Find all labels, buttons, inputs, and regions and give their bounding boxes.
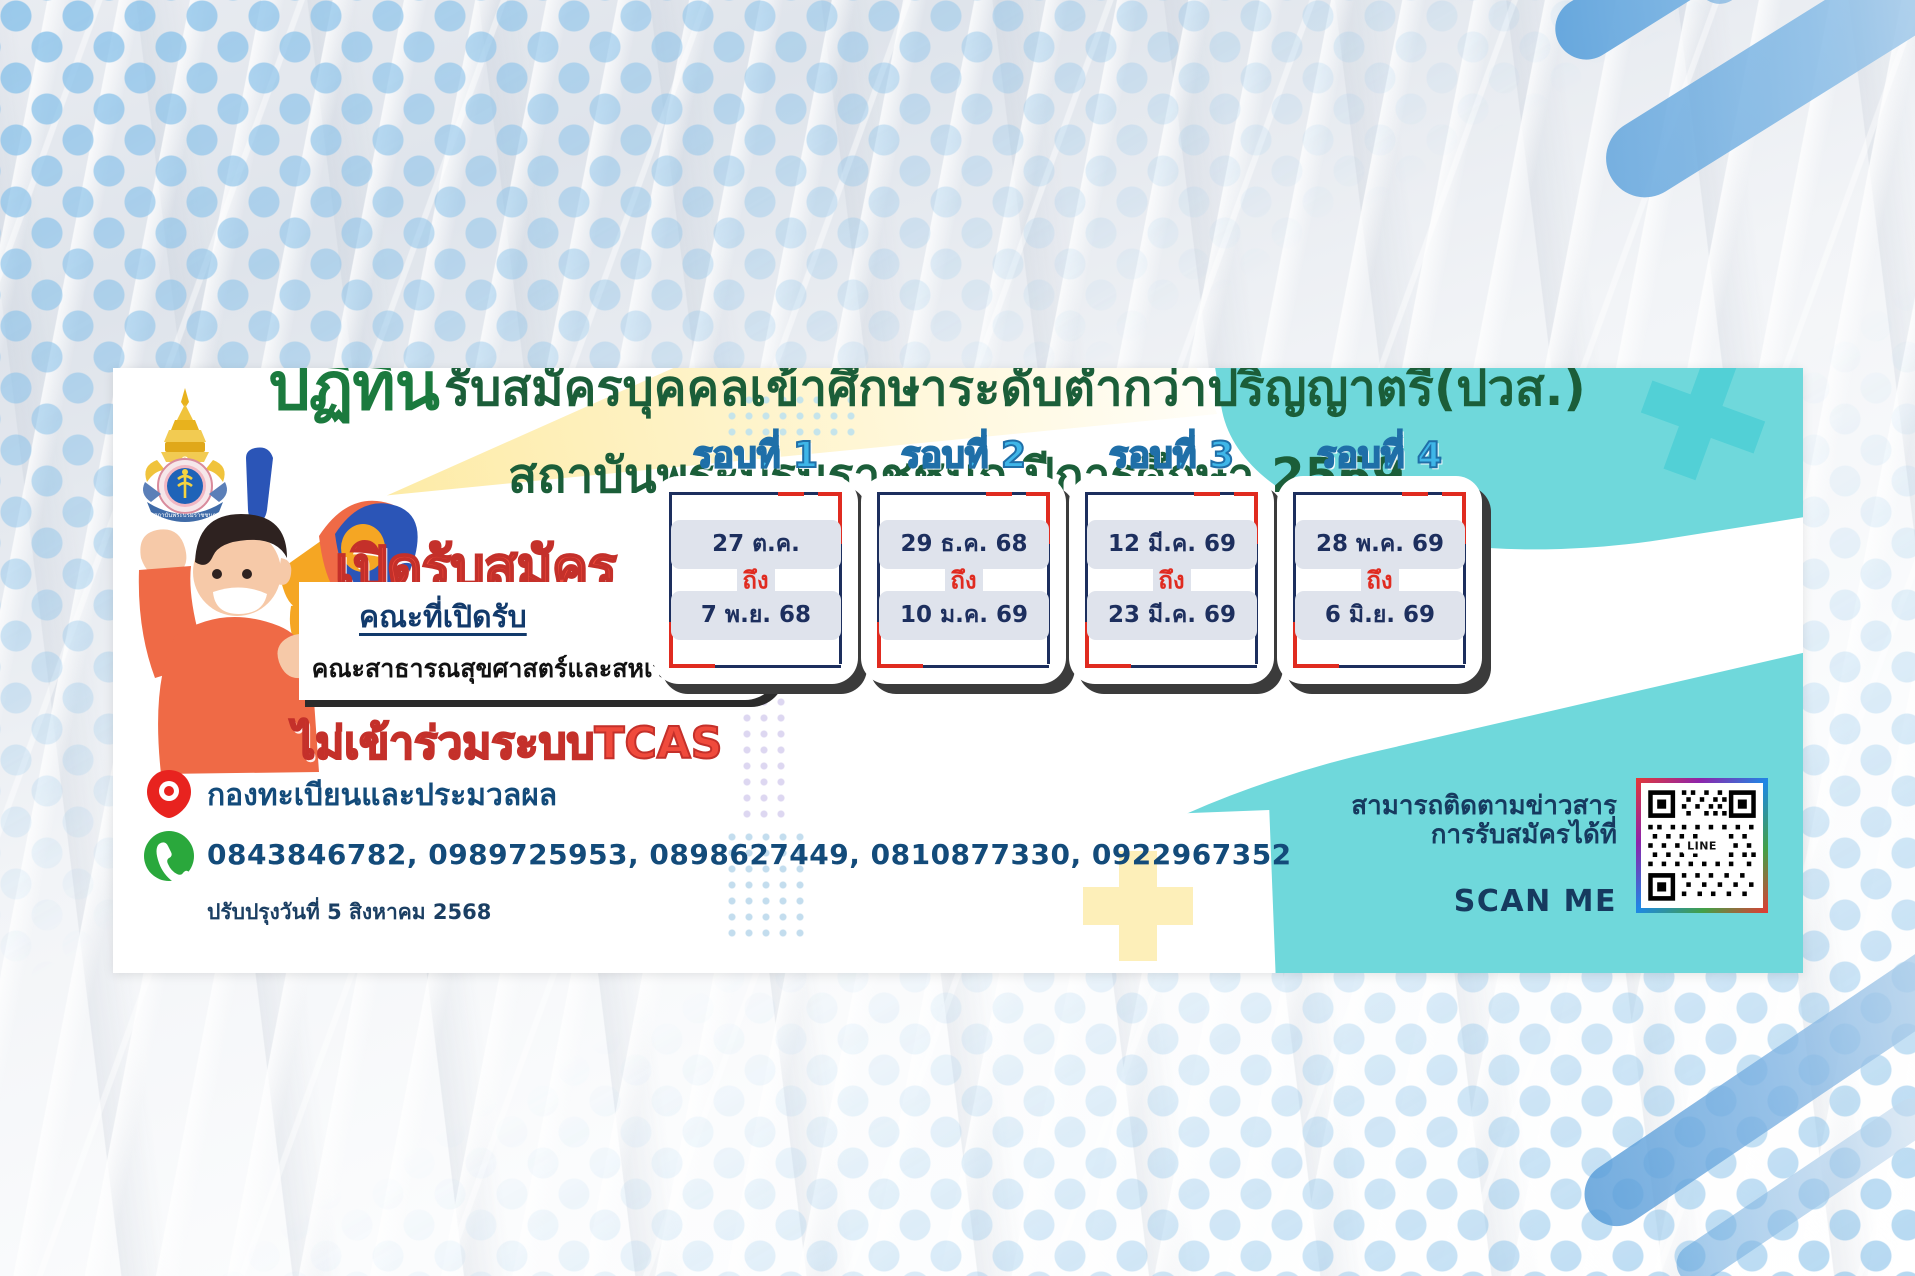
round-2-box: 29 ธ.ค. 68 ถึง 10 ม.ค. 69 — [861, 476, 1066, 684]
phone-icon — [143, 830, 195, 882]
round-card-4: รอบที่ 4 28 พ.ค. 69 ถึง 6 มิ.ย. 69 — [1277, 476, 1482, 684]
round-card-1: รอบที่ 1 27 ต.ค. ถึง 7 พ.ย. 68 — [653, 476, 858, 684]
round-card-3: รอบที่ 3 12 มี.ค. 69 ถึง 23 มี.ค. 69 — [1069, 476, 1274, 684]
round-3-end-date: 23 มี.ค. 69 — [1087, 591, 1257, 640]
admission-calendar-banner: อ สถาบันพระบรมราชชนก — [113, 368, 1803, 973]
round-1-label: รอบที่ 1 — [653, 426, 858, 483]
round-4-box: 28 พ.ค. 69 ถึง 6 มิ.ย. 69 — [1277, 476, 1482, 684]
round-2-label: รอบที่ 2 — [861, 426, 1066, 483]
qr-code-icon[interactable]: LINE — [1636, 778, 1768, 913]
banner-title: ปฏิทิน รับสมัครบุคคลเข้าศึกษาระดับต่ำกว่… — [268, 368, 1768, 420]
qr-text-line1: สามารถติดตามข่าวสาร — [1287, 792, 1617, 821]
no-tcas-notice: ไม่เข้าร่วมระบบTCAS — [293, 708, 722, 778]
page-background: อ สถาบันพระบรมราชชนก — [0, 0, 1915, 1276]
round-1-box: 27 ต.ค. ถึง 7 พ.ย. 68 — [653, 476, 858, 684]
location-pin-icon — [143, 768, 195, 820]
office-name: กองทะเบียนและประมวลผล — [207, 772, 557, 819]
round-4-label: รอบที่ 4 — [1277, 426, 1482, 483]
qr-text-line2: การรับสมัครได้ที่ — [1287, 821, 1617, 850]
updated-date: ปรับปรุงวันที่ 5 สิงหาคม 2568 — [207, 896, 491, 929]
round-card-2: รอบที่ 2 29 ธ.ค. 68 ถึง 10 ม.ค. 69 — [861, 476, 1066, 684]
round-1-end-date: 7 พ.ย. 68 — [671, 591, 841, 640]
title-word-calendar: ปฏิทิน — [268, 368, 439, 425]
round-2-end-date: 10 ม.ค. 69 — [879, 591, 1049, 640]
qr-line-badge: LINE — [1683, 838, 1721, 853]
qr-follow-text: สามารถติดตามข่าวสาร การรับสมัครได้ที่ — [1287, 792, 1617, 850]
faculty-heading: คณะที่เปิดรับ — [359, 594, 527, 641]
scan-me-label: SCAN ME — [1287, 884, 1617, 919]
phone-numbers: 0843846782, 0989725953, 0898627449, 0810… — [207, 838, 1292, 871]
rounds-container: รอบที่ 1 27 ต.ค. ถึง 7 พ.ย. 68 รอบท — [653, 428, 1773, 698]
title-line1-rest: รับสมัครบุคคลเข้าศึกษาระดับต่ำกว่าปริญญา… — [444, 368, 1586, 417]
round-4-end-date: 6 มิ.ย. 69 — [1295, 591, 1465, 640]
round-3-label: รอบที่ 3 — [1069, 426, 1274, 483]
round-3-box: 12 มี.ค. 69 ถึง 23 มี.ค. 69 — [1069, 476, 1274, 684]
